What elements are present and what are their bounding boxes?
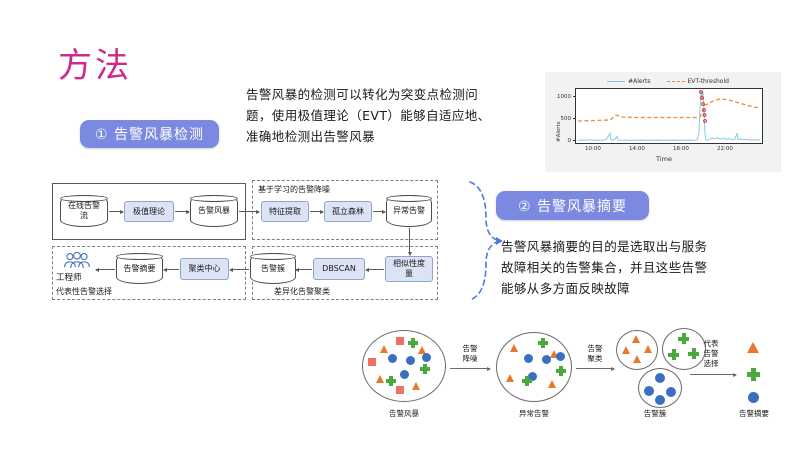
cluster-label-alarm-cluster: 告警簇 [620,408,690,419]
node-label-dbscan: DBSCAN [322,264,356,274]
shape-circle [655,395,665,405]
region-title-selection: 代表性告警选择 [56,286,112,297]
arrow-label-representative: 代表 告警 选择 [694,339,728,369]
legend-label-threshold: EVT-threshold [688,78,729,85]
legend-item-threshold: EVT-threshold [667,78,729,85]
shape-square [396,337,404,345]
node-label-alarm-summary: 告警摘要 [124,264,156,274]
shape-triangle [380,345,388,353]
chart-xtick-1400: 14:00 [629,146,645,152]
chart-xtick-2200: 22:00 [717,146,733,152]
shape-triangle [632,335,640,343]
series-evt-threshold [578,99,760,121]
arrow-similarity-to-dbscan [366,269,384,270]
arrow-stream-to-evt [109,211,123,212]
node-alarm-cluster: 告警簇 [250,253,296,284]
shape-square [396,386,404,394]
arrow-cluster-to-center [230,269,249,270]
shape-circle [542,355,551,364]
shape-triangle [633,355,641,363]
shape-triangle [506,374,514,382]
arrow-summary-to-engineer [96,269,115,270]
chart-svg [576,89,762,143]
shape-cross [747,368,760,381]
node-alarm-summary: 告警摘要 [116,253,163,284]
node-label-evt: 极值理论 [133,207,165,217]
node-label-similarity-measure: 相似性度 量 [393,259,425,279]
node-isolation-forest: 孤立森林 [324,201,372,222]
shape-cross [420,364,430,374]
node-label-feature-extraction: 特征提取 [269,207,301,217]
shape-circle [644,386,654,396]
chart-ytick-500: 500 [553,116,571,122]
shape-triangle [622,346,630,354]
section-one-paragraph: 告警风暴的检测可以转化为突变点检测问 题，使用极值理论（EVT）能够自适应地、 … [246,84,522,147]
shape-circle [422,353,431,362]
shape-circle [655,373,665,383]
section-two-badge[interactable]: ② 告警风暴摘要 [496,191,649,220]
shape-cross [386,376,396,386]
cluster-label-alarm-storm: 告警风暴 [362,408,446,419]
shape-cross [538,338,548,348]
shape-circle [406,356,415,365]
node-label-online-alarm-stream: 在线告警 流 [68,201,100,221]
node-alarm-storm: 告警风暴 [190,195,238,227]
node-cluster-center: 聚类中心 [180,258,229,280]
shape-circle [666,387,676,397]
alarm-summary-pipeline: 告警风暴 告警 降噪 异常告警 告警 聚类 [352,320,792,430]
series-alerts [578,91,760,141]
region-title-clustering: 差异化告警聚类 [274,286,330,297]
page-title: 方法 [58,38,132,87]
shape-triangle [747,342,759,353]
engineer-label: 工程师 [56,271,82,283]
arrow-dbscan-to-cluster [296,269,312,270]
shape-circle [524,354,533,363]
arrow-abnormal-to-similarity [409,228,410,255]
chart-xlabel: Time [535,155,793,163]
threshold-line-swatch [667,81,685,82]
arrow-center-to-summary [164,269,179,270]
arrow-clustering [576,368,614,369]
shape-circle [556,352,565,361]
alerts-line-swatch [607,81,625,82]
shape-circle [748,392,759,403]
node-label-alarm-storm: 告警风暴 [198,206,230,216]
chart-ytick-1000: 1000 [553,94,571,100]
shape-triangle [644,345,652,353]
section-one-badge[interactable]: ① 告警风暴检测 [80,120,219,148]
region-title-denoising: 基于学习的告警降噪 [258,184,330,195]
arrow-feature-to-forest [310,211,323,212]
node-evt: 极值理论 [124,201,174,222]
engineer-block: 工程师 [54,250,96,284]
arrow-forest-to-abnormal [373,211,385,212]
slide-canvas: 方法 ① 告警风暴检测 告警风暴的检测可以转化为突变点检测问 题，使用极值理论（… [0,0,800,449]
arrow-denoise [450,368,490,369]
node-label-cluster-center: 聚类中心 [189,264,221,274]
node-feature-extraction: 特征提取 [261,201,309,222]
node-label-alarm-cluster: 告警簇 [261,264,285,274]
shape-circle [388,354,397,363]
arrow-representative-selection [690,374,736,375]
section-two-paragraph: 告警风暴摘要的目的是选取出与服务 故障相关的告警集合，并且这些告警 能够从多方面… [501,236,769,299]
arrow-label-clustering: 告警 聚类 [576,344,614,364]
chart-xtick-1000: 10:00 [585,146,601,152]
node-label-isolation-forest: 孤立森林 [332,207,364,217]
node-online-alarm-stream: 在线告警 流 [60,195,108,227]
cluster-label-alarm-summary: 告警摘要 [722,408,786,419]
shape-cross [522,376,532,386]
legend-item-alerts: #Alerts [607,78,650,85]
shape-cross [668,349,679,360]
shape-cross [408,338,418,348]
node-abnormal-alarm: 异常告警 [386,195,432,227]
node-similarity-measure: 相似性度 量 [385,256,433,282]
engineer-people-icon [62,252,92,270]
chart-plot-area [575,88,763,144]
chart-legend: #Alerts EVT-threshold [563,74,773,88]
arrow-label-denoise: 告警 降噪 [450,344,490,364]
method-flow-diagram: 基于学习的告警降噪 代表性告警选择 差异化告警聚类 在线告警 流 极值理论 告警… [52,180,472,302]
evt-threshold-chart: #Alerts EVT-threshold #Alerts 0 500 1000 [545,72,781,172]
shape-circle [400,370,409,379]
shape-triangle [548,380,556,388]
shape-cross [678,333,689,344]
shape-triangle [510,344,518,352]
node-label-abnormal-alarm: 异常告警 [393,206,425,216]
legend-label-alerts: #Alerts [628,78,650,85]
shape-square [368,358,376,366]
cluster-label-abnormal-alarm: 异常告警 [496,408,572,419]
shape-cross [556,366,566,376]
cluster-circle-alarm-storm [362,330,446,402]
shape-triangle [412,382,420,390]
node-dbscan: DBSCAN [313,258,365,280]
shape-triangle [376,375,384,383]
chart-ytick-0: 0 [553,138,571,144]
arrow-evt-to-storm [175,211,189,212]
arrow-storm-to-feature [239,211,259,212]
chart-xtick-1800: 18:00 [673,146,689,152]
